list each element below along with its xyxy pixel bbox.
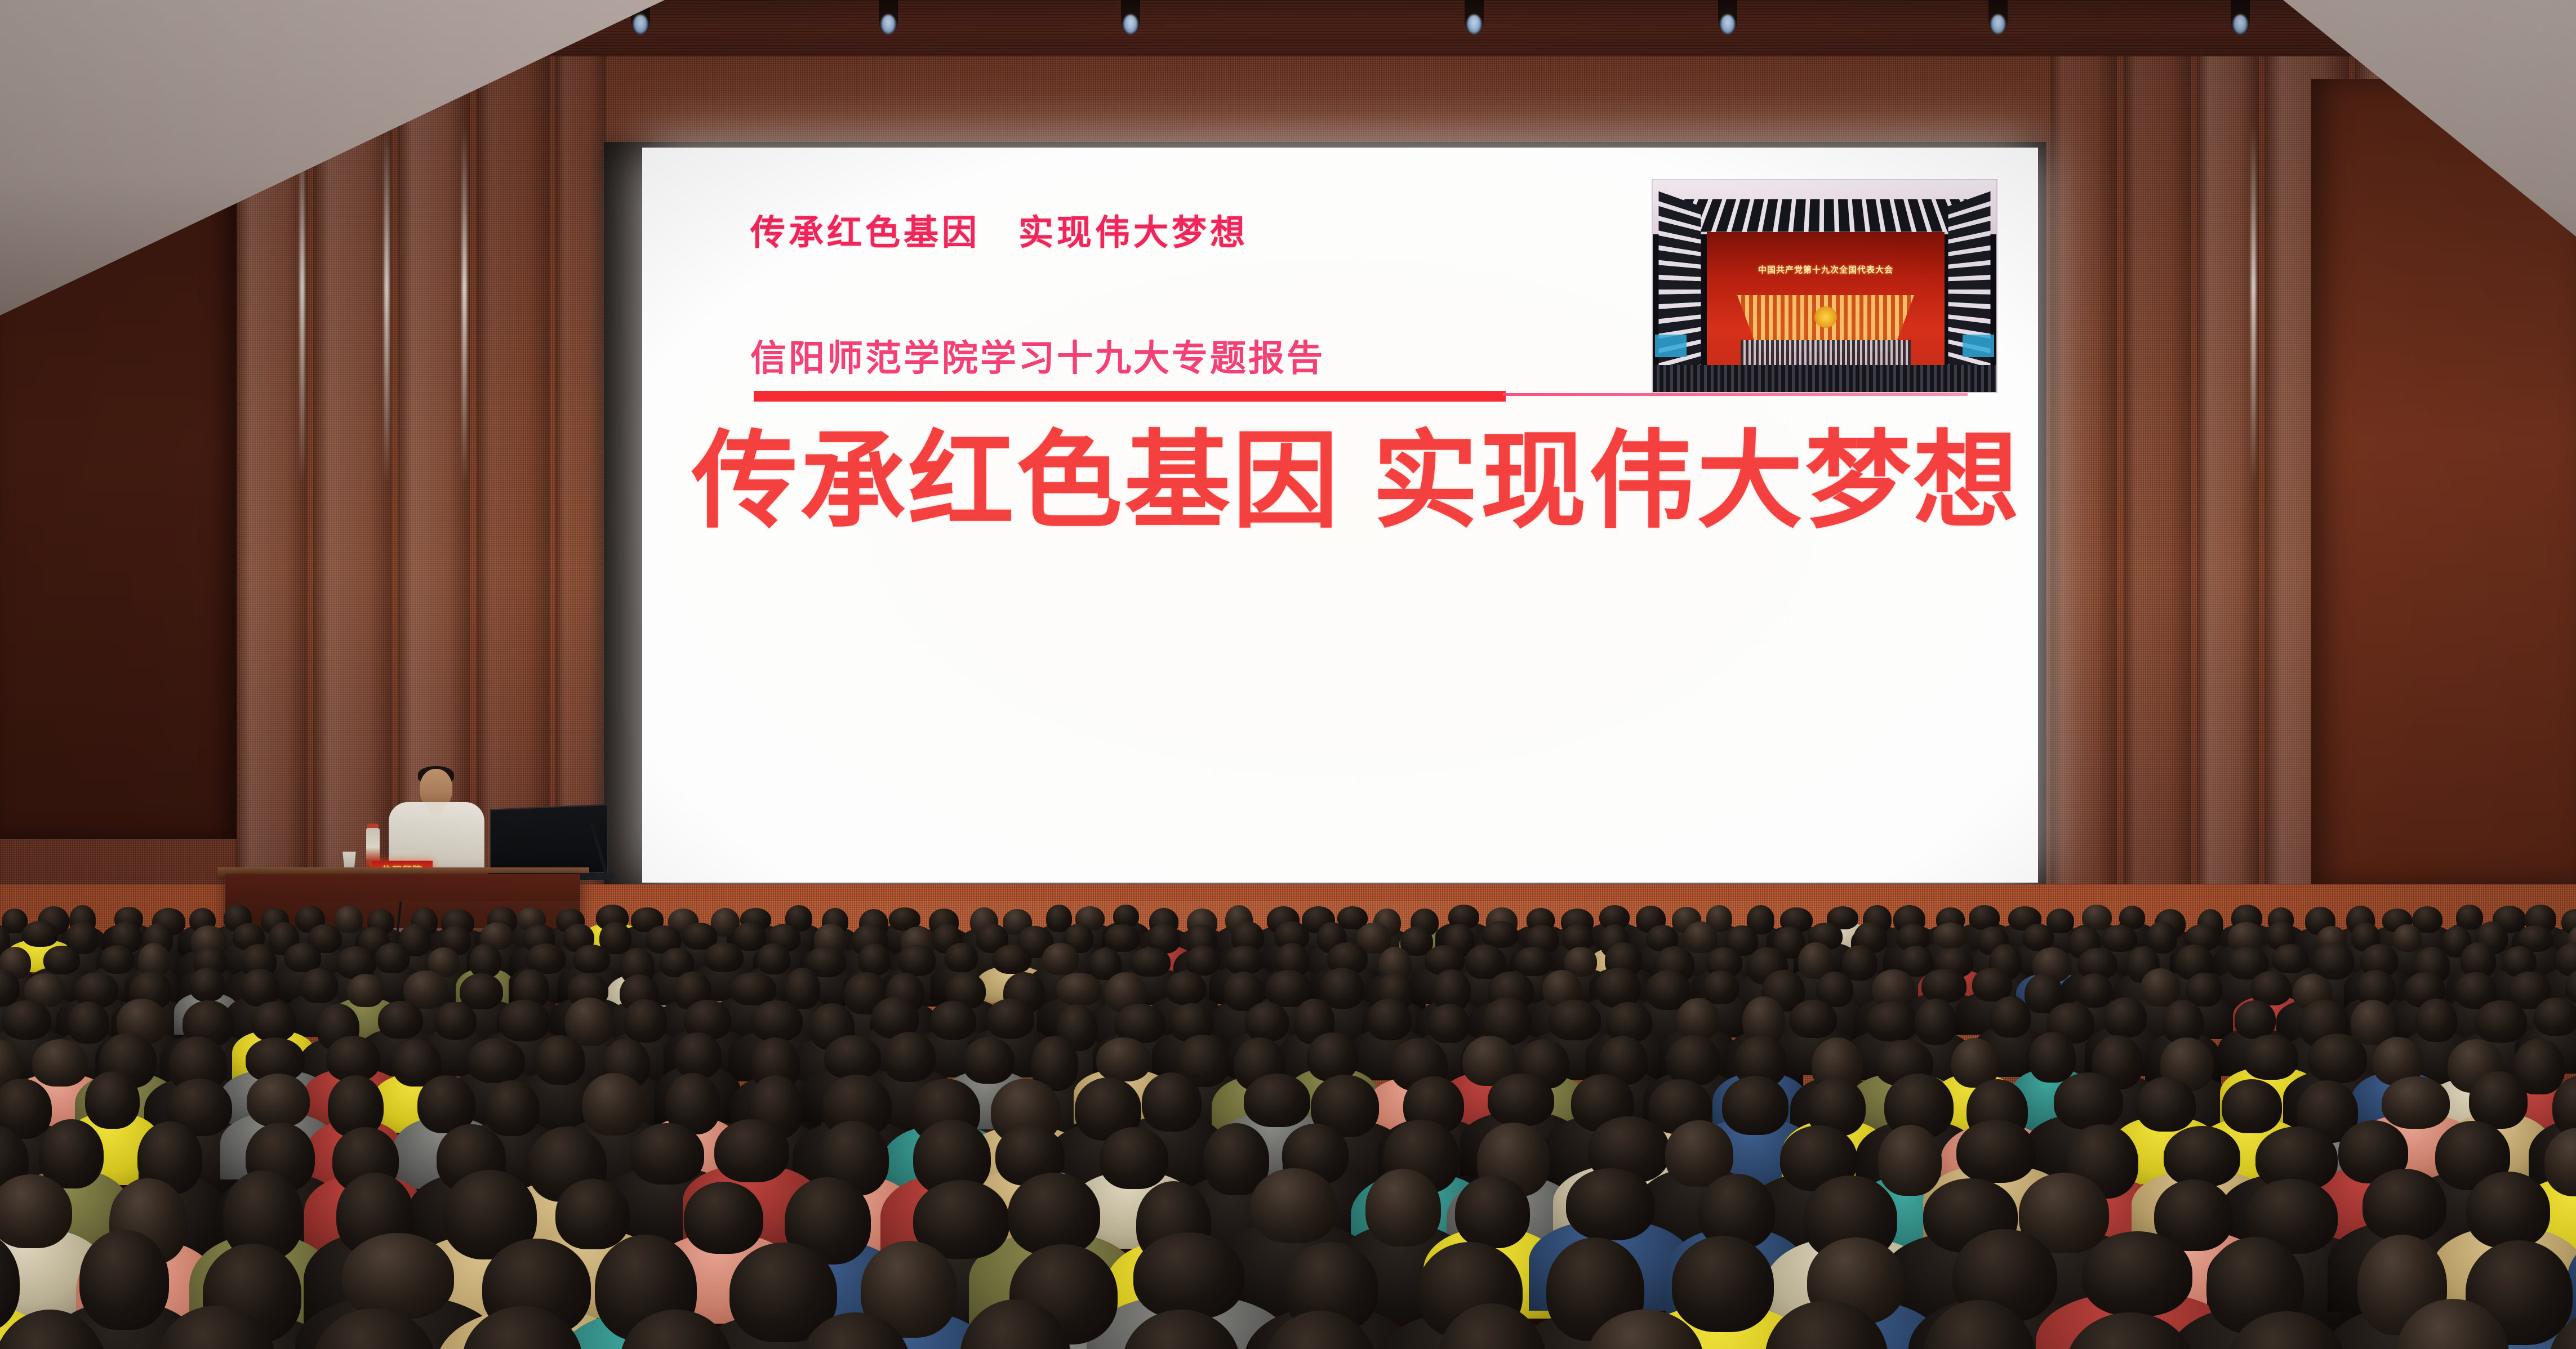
audience-member-head xyxy=(1549,1000,1600,1040)
audience-member-head xyxy=(883,1032,936,1083)
audience-member-head xyxy=(2103,998,2147,1038)
audience-member-head xyxy=(993,945,1031,974)
audience-member-head xyxy=(1878,1125,1942,1196)
photo-delegate-rows xyxy=(1741,340,1911,368)
audience-member-head xyxy=(1056,973,1102,1005)
wall-slat xyxy=(2050,56,2117,912)
audience-member-head xyxy=(2235,1000,2275,1039)
audience-member-head xyxy=(898,945,936,976)
audience-member-head xyxy=(1455,1176,1530,1248)
audience-member-head xyxy=(1596,968,1641,1007)
photo-left-led-screen xyxy=(1655,335,1687,357)
ceiling-spotlight xyxy=(1121,0,1140,34)
audience-member-head xyxy=(22,921,59,947)
photo-party-emblem xyxy=(1814,306,1837,328)
audience-member-head xyxy=(247,1074,310,1128)
audience-member-head xyxy=(1244,1074,1311,1127)
audience-member-head xyxy=(1142,1072,1202,1132)
audience-member-head xyxy=(375,943,410,974)
audience-member-head xyxy=(1933,923,1968,949)
audience-member-head xyxy=(930,1001,976,1040)
audience-member-head xyxy=(2382,1076,2450,1129)
audience-member-head xyxy=(2076,973,2112,1008)
audience-member-head xyxy=(2415,999,2457,1042)
audience-member-head xyxy=(684,1182,763,1254)
audience-member-head xyxy=(335,906,363,932)
audience-member-head xyxy=(757,943,790,974)
audience-member-head xyxy=(251,1001,296,1041)
audience-member-head xyxy=(824,1035,880,1079)
audience-member-head xyxy=(2164,1126,2240,1187)
audience-member-head xyxy=(704,942,744,972)
audience-member-head xyxy=(674,1032,721,1079)
audience-member-head xyxy=(1482,921,1518,947)
slat-highlight xyxy=(2251,125,2256,484)
audience-member-head xyxy=(241,969,279,1007)
audience-member-head xyxy=(1956,1120,2036,1183)
audience-member-head xyxy=(1990,996,2031,1038)
audience-member-head xyxy=(1320,968,1364,1009)
audience-member-head xyxy=(1251,1168,1337,1243)
audience-member-head xyxy=(1790,1000,1837,1038)
audience-member-head xyxy=(1096,1038,1150,1081)
slide-subtitle-text: 信阳师范学院学习十九大专题报告 xyxy=(750,330,1607,381)
audience-member-head xyxy=(347,974,384,1007)
slat-highlight xyxy=(462,125,467,484)
audience-member-head xyxy=(2082,1231,2192,1316)
audience-member-head xyxy=(1703,970,1739,1004)
audience-member-head xyxy=(1245,1002,1289,1041)
photo-banner-text: 中国共产党第十九次全国代表大会 xyxy=(1707,264,1945,275)
audience-member-head xyxy=(2308,1034,2367,1083)
audience-member-head xyxy=(1672,1236,1774,1332)
audience-member-head xyxy=(43,946,80,975)
audience-member-head xyxy=(2313,943,2354,980)
photo-audience-floor xyxy=(1653,365,1996,392)
audience-member-head xyxy=(2023,924,2054,951)
audience-member-head xyxy=(467,1038,525,1084)
audience-member-head xyxy=(535,1035,585,1085)
audience-member-head xyxy=(1367,999,1412,1040)
audience-member-head xyxy=(630,1123,704,1184)
photo-right-sidewall xyxy=(1948,192,1991,388)
audience-member-head xyxy=(1866,1001,1918,1041)
photo-left-sidewall xyxy=(1658,192,1701,388)
wall-slat xyxy=(2197,56,2259,912)
ceiling-spotlight xyxy=(1465,0,1484,34)
audience-member-head xyxy=(582,1073,646,1136)
audience-member-head xyxy=(2102,925,2137,952)
audience-member-head xyxy=(1105,924,1140,952)
audience-member-head xyxy=(2054,1072,2123,1129)
audience-member-head xyxy=(1488,1074,1554,1126)
wall-slat xyxy=(555,56,606,912)
audience-member-head xyxy=(1676,998,1719,1040)
audience-member-head xyxy=(2141,968,2180,1007)
audience-member-head xyxy=(342,1233,454,1319)
audience-member-head xyxy=(986,999,1035,1039)
audience-member-head xyxy=(100,945,134,974)
slide-header-text: 传承红色基因 实现伟大梦想 xyxy=(750,204,1528,255)
audience-member-head xyxy=(1130,947,1171,977)
audience-member-head xyxy=(1969,905,2000,930)
audience-member-head xyxy=(555,1179,630,1249)
audience-member-head xyxy=(624,999,668,1043)
audience-member-head xyxy=(573,945,610,973)
audience-member-head xyxy=(79,1230,169,1330)
audience-crowd xyxy=(0,901,2576,1349)
audience-member-head xyxy=(1008,1173,1101,1256)
audience-member-head xyxy=(714,1119,789,1182)
audience-member-head xyxy=(499,1000,550,1041)
ceiling-spotlight xyxy=(1718,0,1737,34)
audience-member-head xyxy=(1684,921,1718,953)
audience-member-head xyxy=(730,972,776,1005)
lecture-hall-photo: 传承红色基因 实现伟大梦想 信阳师范学院学习十九大专题报告 传承红色基因 实现伟… xyxy=(0,0,2576,1349)
audience-member-head xyxy=(2136,1077,2196,1132)
photo-right-led-screen xyxy=(1963,335,1994,357)
audience-member-head xyxy=(85,1071,140,1129)
audience-member-head xyxy=(2466,1172,2550,1248)
slat-highlight xyxy=(384,125,389,484)
slide-divider-thin xyxy=(1503,393,1968,396)
audience-member-head xyxy=(1841,945,1878,980)
audience-member-head xyxy=(68,1001,109,1044)
audience-member-head xyxy=(2028,1032,2076,1083)
audience-member-head xyxy=(2363,1169,2446,1241)
audience-member-head xyxy=(1225,946,1263,974)
audience-member-head xyxy=(1666,1035,1721,1085)
congress-photo: 中国共产党第十九次全国代表大会 xyxy=(1652,179,1997,393)
audience-member-head xyxy=(963,1037,1015,1084)
audience-member-head xyxy=(1042,943,1079,975)
audience-member-head xyxy=(2222,1079,2283,1133)
audience-member-head xyxy=(1100,1127,1168,1188)
audience-member-head xyxy=(1915,999,1957,1045)
slat-highlight xyxy=(300,125,305,484)
audience-member-head xyxy=(1428,1004,1470,1043)
slide-main-title: 传承红色基因 实现伟大梦想 xyxy=(692,428,2016,534)
audience-member-head xyxy=(858,943,891,976)
audience-member-head xyxy=(945,943,978,972)
audience-member-head xyxy=(469,944,501,978)
audience-member-head xyxy=(460,973,503,1009)
ceiling-spotlight xyxy=(1988,0,2008,34)
photo-ceiling-coffers xyxy=(1670,199,1982,231)
audience-member-head xyxy=(2351,1000,2395,1045)
audience-member-head xyxy=(2272,944,2308,973)
audience-member-head xyxy=(1165,971,1206,1005)
audience-member-head xyxy=(2469,1071,2528,1129)
audience-member-head xyxy=(435,1002,477,1040)
audience-member-head xyxy=(733,922,766,951)
audience-member-head xyxy=(1133,1232,1244,1319)
audience-member-head xyxy=(1722,1076,1788,1135)
ceiling-spotlight xyxy=(879,0,898,34)
ceiling-spotlight xyxy=(2231,0,2250,34)
audience-member-head xyxy=(2,1000,51,1040)
audience-member-head xyxy=(750,1000,803,1041)
wall-slat xyxy=(2124,56,2191,912)
slide-divider-thick xyxy=(754,391,1506,402)
audience-member-head xyxy=(2475,1000,2527,1043)
audience-member-head xyxy=(1365,1169,1441,1246)
laptop-screen xyxy=(490,804,608,878)
audience-member-head xyxy=(484,1080,540,1136)
audience-member-head xyxy=(1307,1032,1358,1081)
wall-slat xyxy=(477,56,550,912)
microphone-head-right xyxy=(595,817,606,828)
audience-member-head xyxy=(2243,1035,2298,1080)
audience-member-head xyxy=(2393,924,2422,952)
audience-member-head xyxy=(1514,947,1552,976)
audience-member-head xyxy=(326,1036,380,1081)
wall-slat xyxy=(313,56,392,912)
audience-member-head xyxy=(1921,969,1967,1002)
audience-member-head xyxy=(2534,998,2576,1036)
audience-member-head xyxy=(189,968,225,1001)
audience-member-head xyxy=(378,1001,423,1039)
audience-member-head xyxy=(32,1039,88,1087)
audience-member-head xyxy=(1566,1168,1655,1240)
audience-member-head xyxy=(300,968,338,1003)
